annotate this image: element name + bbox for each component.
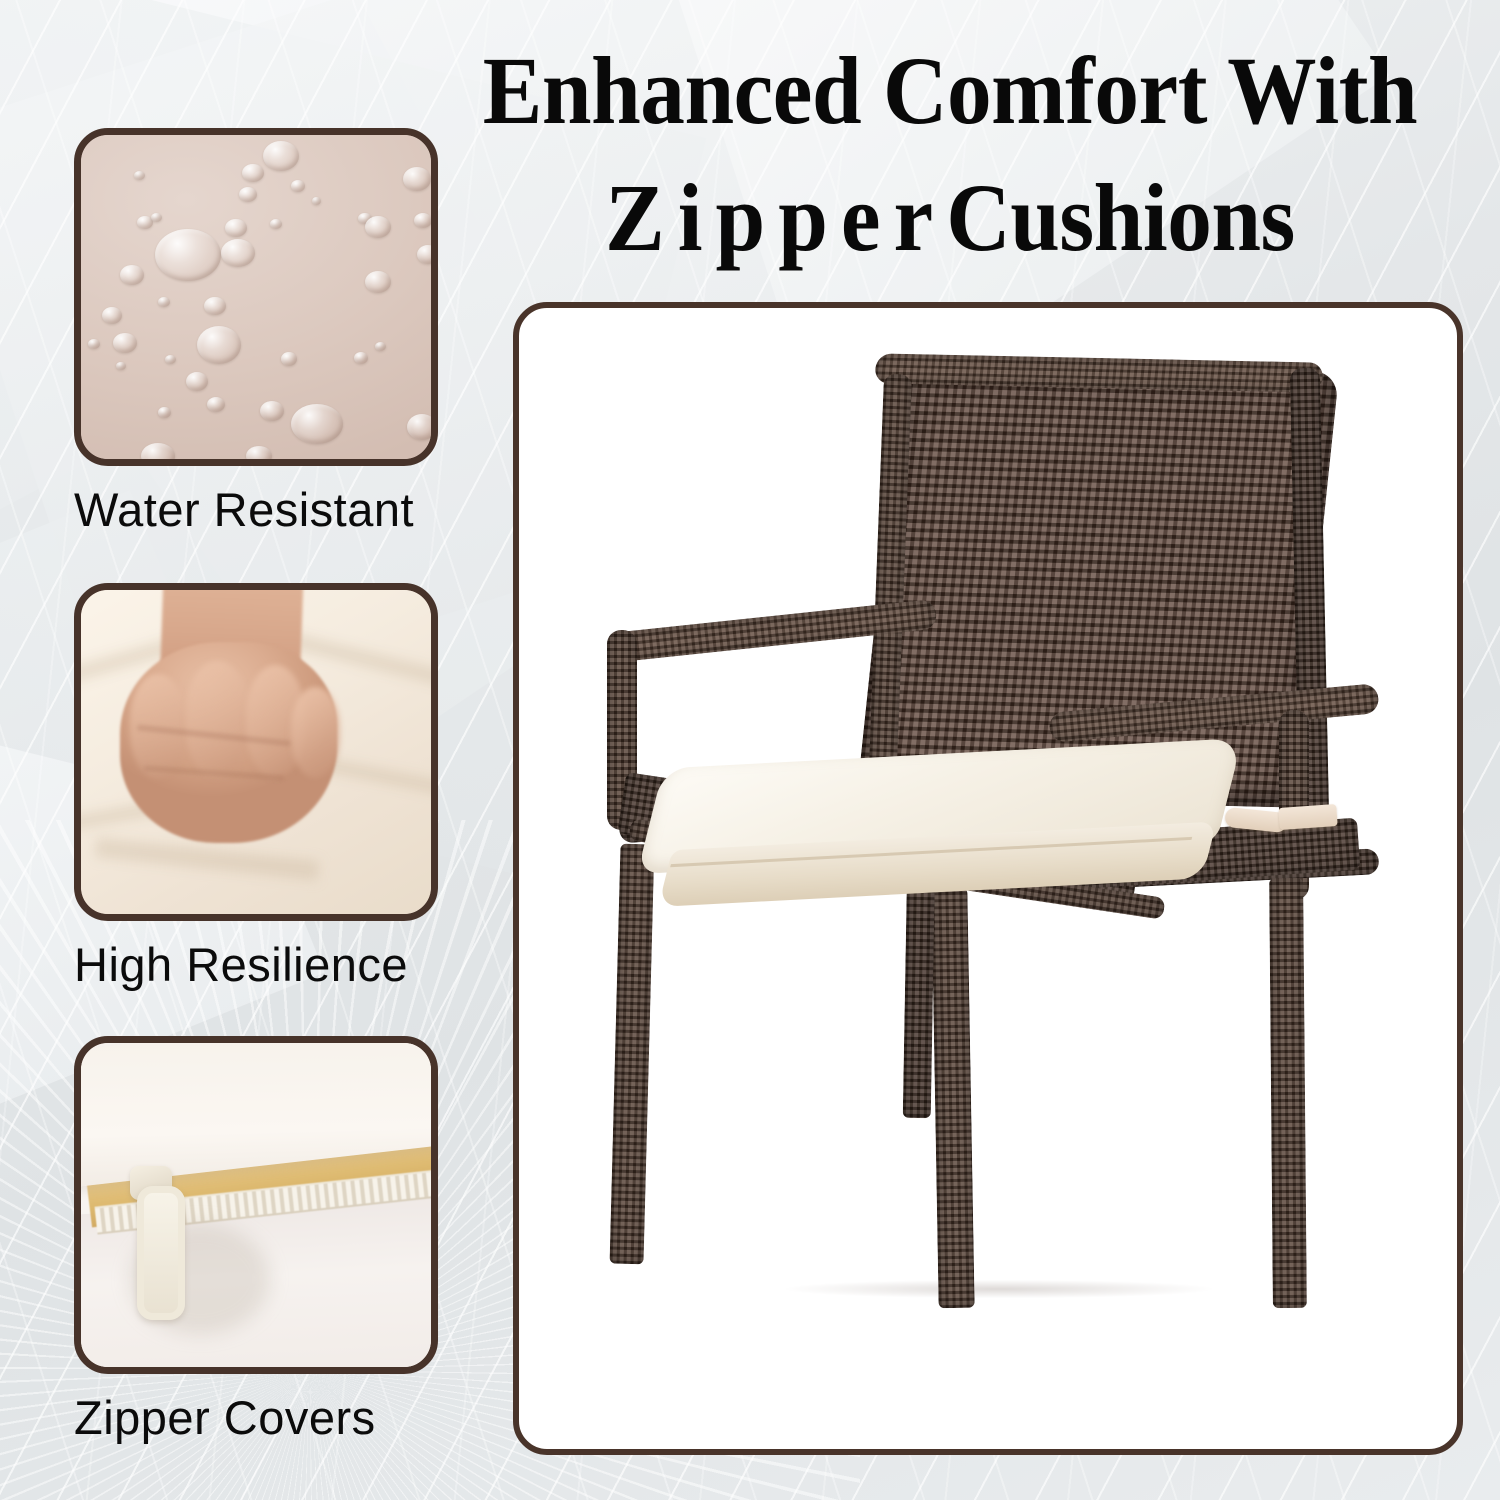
droplet xyxy=(312,197,321,205)
droplet xyxy=(102,307,122,324)
feature-thumbnail-water-resistant[interactable] xyxy=(74,128,438,466)
droplet xyxy=(239,187,257,202)
feature-water-resistant[interactable]: Water Resistant xyxy=(74,128,438,537)
droplet xyxy=(120,265,144,285)
knuckle xyxy=(186,661,249,778)
droplet xyxy=(151,213,162,222)
chair-seat-cushion xyxy=(647,739,1234,919)
droplet xyxy=(113,333,137,353)
droplet xyxy=(158,297,170,307)
title-line-2: ZipperCushions xyxy=(466,161,1433,274)
droplet xyxy=(141,443,175,466)
droplet xyxy=(221,239,255,267)
droplet xyxy=(186,372,208,391)
chair-leg-front-right xyxy=(931,888,974,1309)
title-word-zipper: Zipper xyxy=(605,164,946,271)
water-droplet-fabric-icon xyxy=(81,135,431,459)
droplet xyxy=(134,171,145,180)
droplet-large xyxy=(197,326,241,364)
product-image-panel[interactable] xyxy=(513,302,1463,1455)
droplet xyxy=(246,446,272,466)
feature-thumbnail-high-resilience[interactable] xyxy=(74,583,438,921)
feature-caption-high-resilience: High Resilience xyxy=(74,937,438,992)
droplet xyxy=(225,219,247,237)
droplet xyxy=(281,352,297,366)
page-title: Enhanced Comfort With ZipperCushions xyxy=(430,34,1470,275)
feature-thumbnail-zipper-covers[interactable] xyxy=(74,1036,438,1374)
chair-floor-shadow xyxy=(699,1276,1299,1302)
droplet xyxy=(260,401,284,421)
title-line-1: Enhanced Comfort With xyxy=(466,34,1433,147)
title-word-cushions: Cushions xyxy=(946,164,1295,271)
droplet xyxy=(365,216,391,238)
droplet xyxy=(354,352,368,364)
infographic-canvas: Enhanced Comfort With ZipperCushions xyxy=(0,0,1500,1500)
droplet xyxy=(414,213,432,228)
feature-zipper-covers[interactable]: Zipper Covers xyxy=(74,1036,438,1445)
cushion-tie-tail xyxy=(1278,804,1337,830)
product-chair-image xyxy=(579,358,1399,1398)
feature-high-resilience[interactable]: High Resilience xyxy=(74,583,438,992)
droplet xyxy=(407,414,437,440)
chair-backrest xyxy=(857,360,1340,807)
chair-leg-back-right xyxy=(1269,878,1307,1308)
zipper-pull-tab xyxy=(137,1186,185,1320)
feature-caption-zipper-covers: Zipper Covers xyxy=(74,1390,438,1445)
droplet xyxy=(116,362,126,370)
droplet-large xyxy=(155,229,221,281)
droplet-large xyxy=(291,404,343,444)
chair-leg-front-left xyxy=(610,844,655,1265)
droplet xyxy=(204,297,226,315)
droplet xyxy=(365,271,391,293)
knuckle xyxy=(291,687,340,778)
feature-caption-water-resistant: Water Resistant xyxy=(74,482,438,537)
